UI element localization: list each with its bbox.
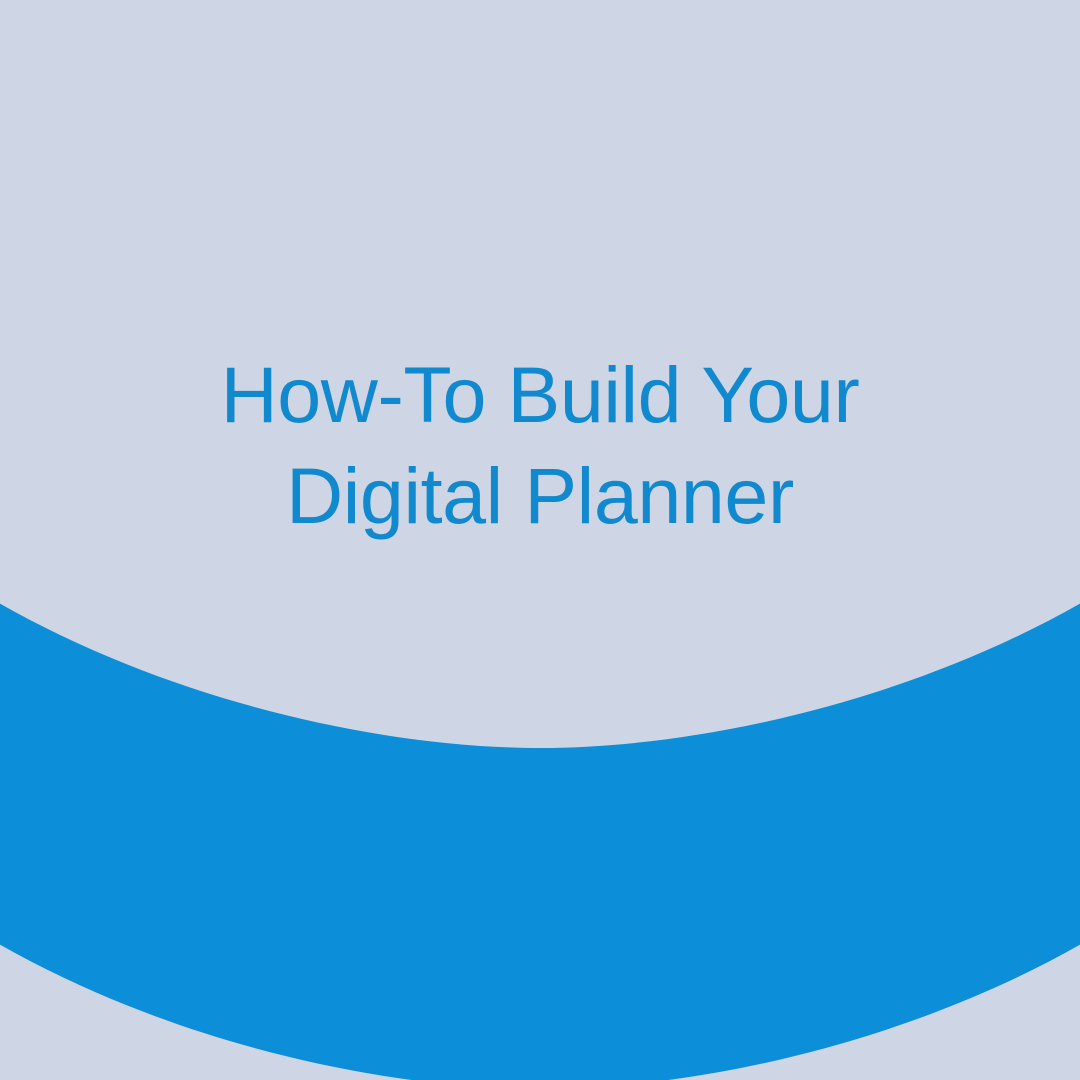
page-title-line-1: How-To Build Your bbox=[0, 344, 1080, 445]
page-title-line-2: Digital Planner bbox=[0, 445, 1080, 546]
blue-band-shape bbox=[0, 592, 1080, 1080]
title-slide: How-To Build Your Digital Planner bbox=[0, 0, 1080, 1080]
page-title: How-To Build Your Digital Planner bbox=[0, 344, 1080, 546]
